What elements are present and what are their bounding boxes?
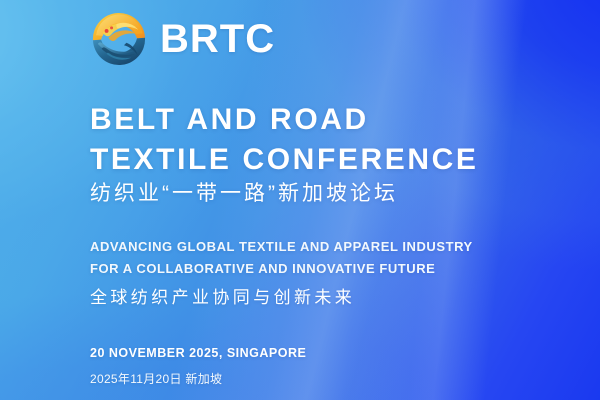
brtc-circular-swirl-logo-icon [88, 8, 150, 70]
main-title: BELT AND ROAD TEXTILE CONFERENCE [90, 100, 479, 180]
main-title-line-1: BELT AND ROAD [90, 100, 479, 140]
brand-wordmark: BRTC [160, 19, 275, 59]
brand-lockup: BRTC [88, 8, 275, 70]
event-date-location-english: 20 NOVEMBER 2025, SINGAPORE [90, 346, 306, 361]
tagline-chinese: 全球纺织产业协同与创新未来 [90, 288, 355, 308]
main-title-line-2: TEXTILE CONFERENCE [90, 140, 479, 180]
poster-content: BRTC BELT AND ROAD TEXTILE CONFERENCE 纺织… [0, 0, 600, 400]
main-title-chinese: 纺织业“一带一路”新加坡论坛 [90, 181, 398, 206]
tagline-line-1: ADVANCING GLOBAL TEXTILE AND APPAREL IND… [90, 236, 473, 258]
event-date-location-chinese: 2025年11月20日 新加坡 [90, 372, 306, 386]
tagline: ADVANCING GLOBAL TEXTILE AND APPAREL IND… [90, 236, 473, 281]
event-details: 20 NOVEMBER 2025, SINGAPORE 2025年11月20日 … [90, 346, 306, 386]
conference-poster: BRTC BELT AND ROAD TEXTILE CONFERENCE 纺织… [0, 0, 600, 400]
tagline-line-2: FOR A COLLABORATIVE AND INNOVATIVE FUTUR… [90, 258, 473, 280]
